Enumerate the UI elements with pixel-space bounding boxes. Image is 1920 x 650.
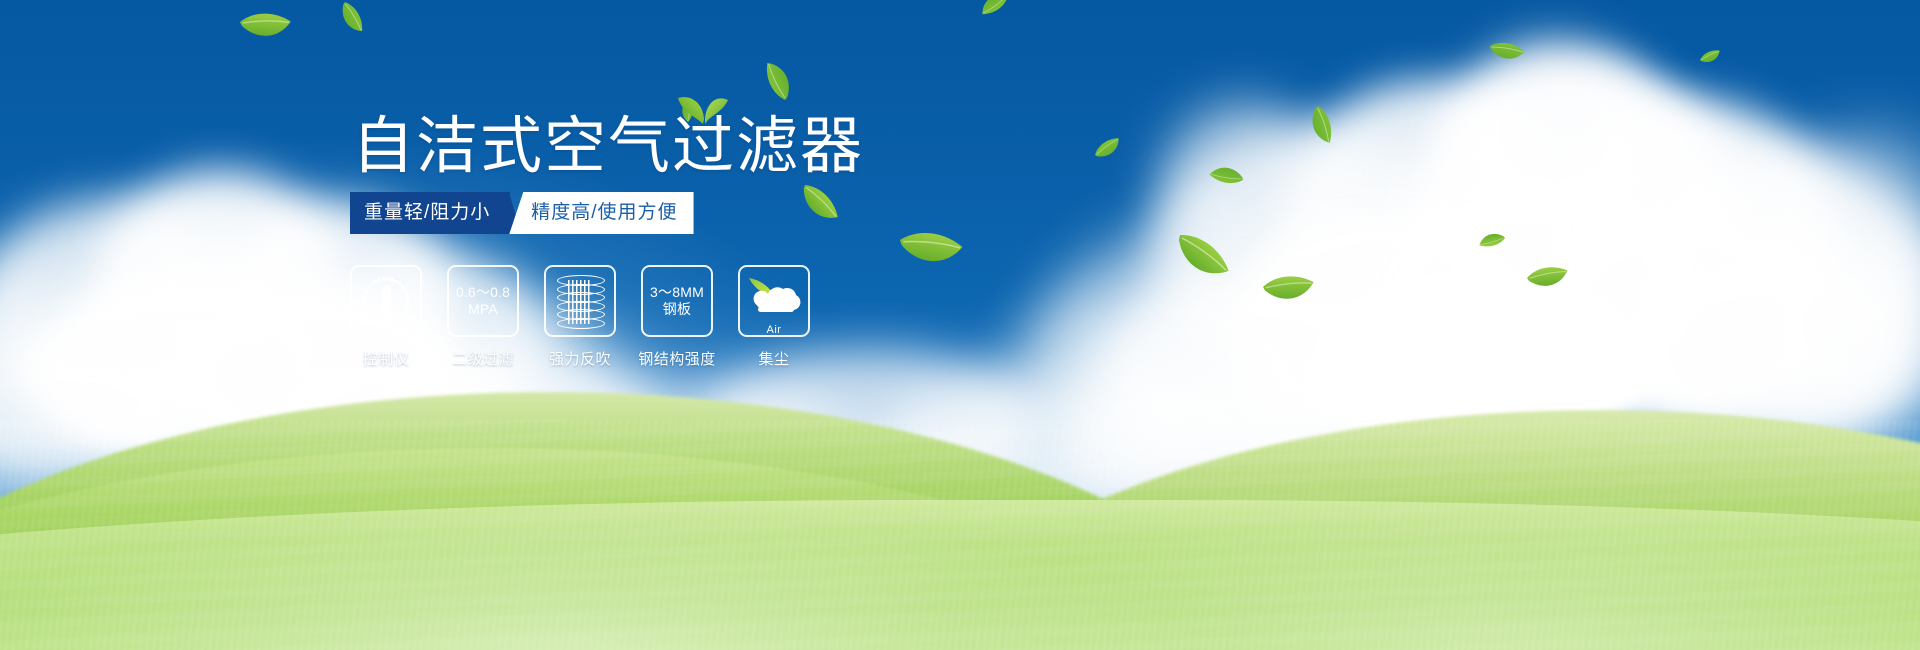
filter-cartridge-icon: [557, 275, 603, 327]
feature-label: 二级过滤: [452, 348, 514, 369]
feature-item-backblow[interactable]: 强力反吹: [544, 265, 616, 369]
title-leaf-accent: [676, 86, 732, 126]
dial-tick: [364, 307, 367, 310]
pressure-value: 0.6～0.8: [456, 284, 510, 300]
pressure-unit: MPA: [456, 301, 510, 318]
dial-tick: [364, 290, 367, 293]
dial-tick: [363, 294, 366, 297]
cartridge-ring: [557, 318, 605, 329]
feature-tabs: 重量轻/阻力小 精度高/使用方便: [350, 192, 694, 234]
feature-box: 0.6～0.8 MPA: [447, 265, 519, 337]
product-hero-banner: 自洁式空气过滤器 重量轻/阻力小 精度高/使用方便: [0, 0, 1920, 650]
dial-tick: [405, 306, 408, 309]
dial-tick: [405, 293, 408, 296]
dial-off-label: OFF: [402, 316, 416, 323]
page-title: 自洁式空气过滤器: [352, 112, 864, 182]
feature-box: 3～8MM 钢板: [641, 265, 713, 337]
dial-tick: [373, 280, 376, 283]
pressure-text-icon: 0.6～0.8 MPA: [456, 284, 510, 318]
feature-item-dust[interactable]: Air 集尘: [738, 265, 810, 369]
feature-label: 集尘: [758, 348, 789, 369]
tab-lightweight-lowresistance[interactable]: 重量轻/阻力小: [350, 192, 510, 234]
dial-tick: [386, 277, 389, 280]
steel-material: 钢板: [650, 301, 704, 318]
feature-label: 控制仪: [363, 348, 410, 369]
dial-tick: [406, 297, 409, 300]
feature-icon-row: NO OFF 控制仪 0.6～0.8 MPA 二级过滤: [350, 265, 810, 369]
air-cloud-dust-icon: [745, 276, 803, 326]
feature-box: [544, 265, 616, 337]
tab-precision-convenience[interactable]: 精度高/使用方便: [509, 192, 693, 234]
dial-tick: [377, 278, 380, 281]
steel-plate-text-icon: 3～8MM 钢板: [650, 284, 704, 318]
dial-tick: [363, 303, 366, 306]
dial-tick: [390, 278, 393, 281]
feature-label: 强力反吹: [549, 348, 611, 369]
feature-item-steel[interactable]: 3～8MM 钢板 钢结构强度: [641, 265, 713, 369]
dial-tick: [382, 277, 385, 280]
dial-tick: [404, 289, 407, 292]
dial-tick: [406, 301, 409, 304]
feature-box: NO OFF: [350, 265, 422, 337]
dial-tick: [362, 298, 365, 301]
dial-tick: [367, 286, 370, 289]
steel-thickness: 3～8MM: [650, 284, 704, 300]
feature-item-pressure[interactable]: 0.6～0.8 MPA 二级过滤: [447, 265, 519, 369]
dial-tick: [401, 285, 404, 288]
feature-label: 钢结构强度: [638, 348, 716, 369]
feature-item-control-dial[interactable]: NO OFF 控制仪: [350, 265, 422, 369]
air-label: Air: [740, 324, 808, 336]
feature-box: Air: [738, 265, 810, 337]
banner-content: 自洁式空气过滤器 重量轻/阻力小 精度高/使用方便: [0, 0, 1920, 650]
control-dial-icon: NO OFF: [357, 273, 415, 329]
dial-pointer: [382, 285, 391, 317]
dial-tick: [401, 313, 404, 316]
